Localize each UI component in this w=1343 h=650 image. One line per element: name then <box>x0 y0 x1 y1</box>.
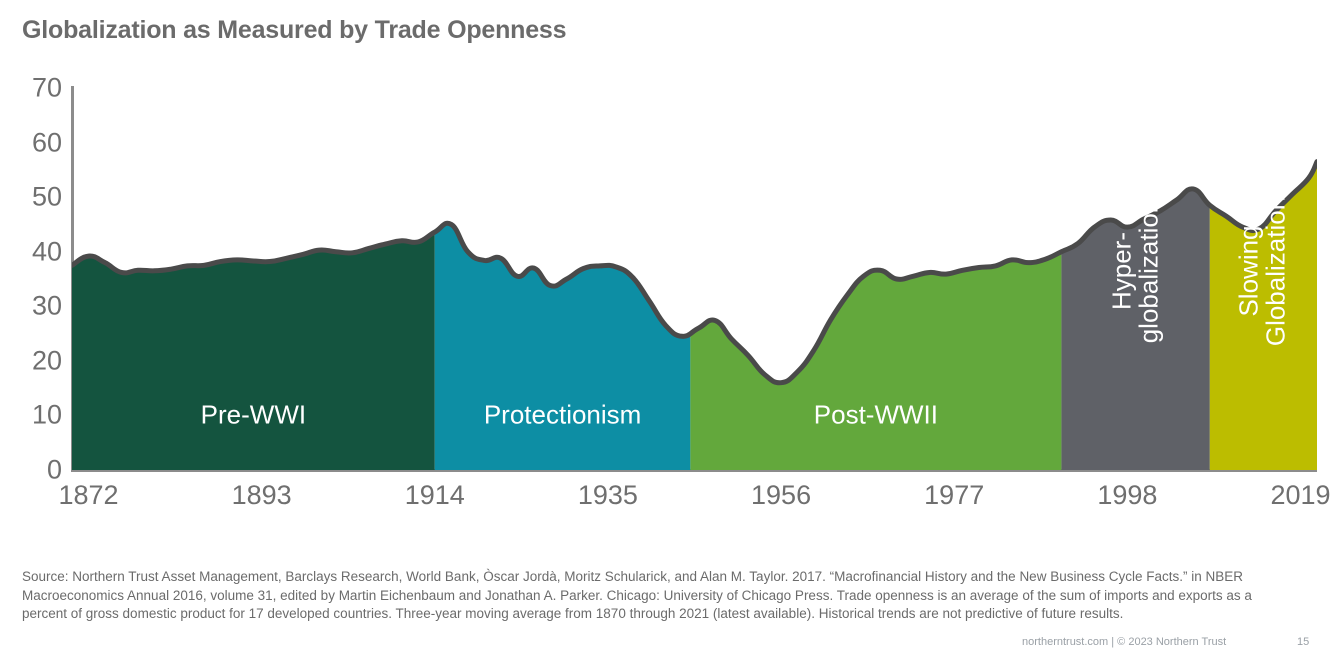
x-axis-tick: 1998 <box>1097 480 1157 511</box>
y-axis-tick: 20 <box>0 347 62 374</box>
y-axis-tick: 0 <box>0 457 62 484</box>
source-note: Source: Northern Trust Asset Management,… <box>22 568 1272 624</box>
footer-attribution: northerntrust.com | © 2023 Northern Trus… <box>1022 636 1226 648</box>
y-axis-tick-labels: 010203040506070 <box>0 88 62 470</box>
x-axis-tick: 1956 <box>751 480 811 511</box>
y-axis-tick: 30 <box>0 293 62 320</box>
x-axis-tick: 2019 <box>1270 480 1330 511</box>
footer-page-number: 15 <box>1297 636 1309 648</box>
x-axis-tick: 1914 <box>405 480 465 511</box>
y-axis-tick: 40 <box>0 238 62 265</box>
plot-area: Pre-WWIProtectionismPost-WWIIHyper-globa… <box>72 88 1317 470</box>
slide-footer: northerntrust.com | © 2023 Northern Trus… <box>0 636 1343 650</box>
area-chart-svg <box>72 88 1317 470</box>
x-axis-tick: 1893 <box>232 480 292 511</box>
x-axis-tick-labels: 18721893191419351956197719982019 <box>72 480 1317 520</box>
y-axis-tick: 60 <box>0 129 62 156</box>
x-axis-tick: 1872 <box>58 480 118 511</box>
chart-container: 010203040506070 Pre-WWIProtectionismPost… <box>0 70 1343 490</box>
y-axis-tick: 70 <box>0 75 62 102</box>
page-title: Globalization as Measured by Trade Openn… <box>22 16 566 45</box>
x-axis-tick: 1977 <box>924 480 984 511</box>
x-axis-tick: 1935 <box>578 480 638 511</box>
y-axis-tick: 10 <box>0 402 62 429</box>
era-band-fills <box>72 162 1317 470</box>
y-axis-tick: 50 <box>0 184 62 211</box>
slide-canvas: Globalization as Measured by Trade Openn… <box>0 0 1343 649</box>
